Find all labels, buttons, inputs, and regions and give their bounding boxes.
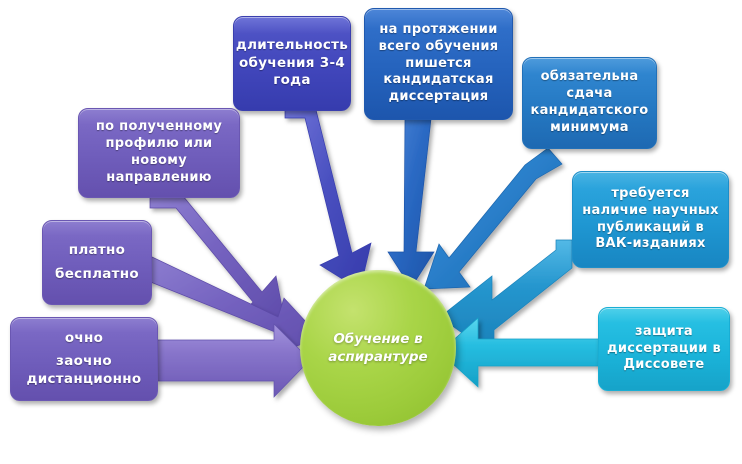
node-candidate-minimum[interactable]: обязательнасдачакандидатскогоминимума	[522, 57, 657, 149]
node-label-line: заочно	[27, 353, 142, 371]
node-label-line: года	[236, 72, 348, 90]
node-study-form[interactable]: очнозаочнодистанционно	[10, 317, 158, 401]
diagram-canvas: Обучение в аспирантуре длительностьобуче…	[0, 0, 742, 464]
node-label-line: Диссовете	[607, 357, 721, 374]
arrow-dissertation-to-hub	[388, 119, 434, 288]
node-label: на протяжениивсего обученияпишетсякандид…	[379, 22, 499, 106]
hub-label-line2: аспирантуре	[328, 349, 427, 365]
node-label-line: профилю или	[96, 136, 222, 153]
node-label-line: дистанционно	[27, 371, 142, 389]
node-profile[interactable]: по полученномупрофилю илиновомунаправлен…	[78, 108, 240, 198]
node-label-line: диссертации в	[607, 341, 721, 358]
node-label-line: платно	[55, 242, 139, 260]
hub-label-line1: Обучение в	[333, 331, 422, 347]
node-label-line: бесплатно	[55, 266, 139, 284]
node-label-line: диссертация	[379, 89, 499, 106]
node-label-line: ВАК-изданиях	[582, 236, 719, 253]
node-label-line: всего обучения	[379, 39, 499, 56]
node-label-line: защита	[607, 324, 721, 341]
node-label-line: направлению	[96, 170, 222, 187]
node-payment-options[interactable]: платнобесплатно	[42, 220, 152, 305]
hub-node-study-in-postgraduate[interactable]: Обучение в аспирантуре	[300, 270, 456, 426]
node-label-line: по полученному	[96, 119, 222, 136]
node-dissertation-writing[interactable]: на протяжениивсего обученияпишетсякандид…	[364, 8, 513, 120]
node-label-line: кандидатского	[530, 103, 648, 120]
node-label-line: обязательна	[530, 69, 648, 86]
node-label-line: на протяжении	[379, 22, 499, 39]
node-label-line: обучения 3-4	[236, 55, 348, 73]
node-label-line: требуется	[582, 186, 719, 203]
node-label-line: длительность	[236, 37, 348, 55]
node-label-line: новому	[96, 153, 222, 170]
node-label-line: сдача	[530, 86, 648, 103]
node-vak-publications[interactable]: требуетсяналичие научныхпубликаций вВАК-…	[572, 171, 729, 268]
hub-label: Обучение в аспирантуре	[328, 330, 427, 366]
node-label-line: наличие научных	[582, 203, 719, 220]
node-label-line: очно	[27, 330, 142, 348]
node-label-line: минимума	[530, 120, 648, 137]
node-label-line: публикаций в	[582, 220, 719, 237]
node-label: защитадиссертации вДиссовете	[607, 324, 721, 375]
node-duration[interactable]: длительностьобучения 3-4года	[233, 16, 351, 111]
node-label: по полученномупрофилю илиновомунаправлен…	[96, 119, 222, 187]
node-label: требуетсяналичие научныхпубликаций вВАК-…	[582, 186, 719, 254]
node-label-line: пишется	[379, 56, 499, 73]
node-dissertation-defence[interactable]: защитадиссертации вДиссовете	[598, 307, 730, 391]
node-label: очнозаочнодистанционно	[27, 330, 142, 389]
node-label: платнобесплатно	[55, 242, 139, 283]
node-label: длительностьобучения 3-4года	[236, 37, 348, 90]
arrow-duration-to-hub	[285, 110, 371, 290]
node-label: обязательнасдачакандидатскогоминимума	[530, 69, 648, 137]
node-label-line: кандидатская	[379, 72, 499, 89]
